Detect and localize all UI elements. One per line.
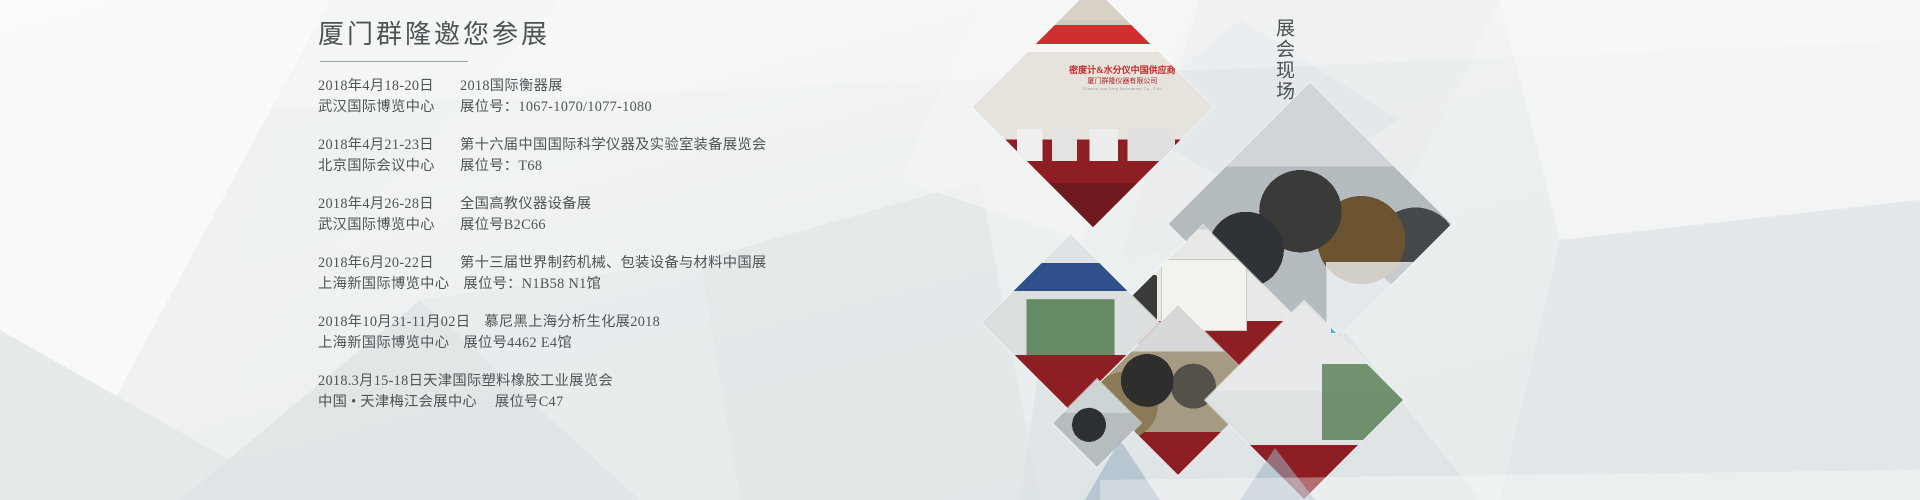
entry-booth: 展位号B2C66	[446, 215, 546, 236]
entry-booth: 展位号4462 E4馆	[449, 333, 572, 354]
entry-row-date: 2018年6月20-22日 第十三届世界制药机械、包装设备与材料中国展	[318, 253, 1018, 274]
exhibition-entry-6: 2018.3月15-18日天津国际塑料橡胶工业展览会 中国 • 天津梅江会展中心…	[318, 371, 1018, 413]
exhibition-text-column: 厦门群隆邀您参展 2018年4月18-20日 2018国际衡器展 武汉国际博览中…	[318, 18, 1018, 430]
title-divider	[320, 61, 468, 62]
exhibition-entry-4: 2018年6月20-22日 第十三届世界制药机械、包装设备与材料中国展 上海新国…	[318, 253, 1018, 295]
entry-row-date: 2018年4月18-20日 2018国际衡器展	[318, 76, 1018, 97]
entry-name: 慕尼黑上海分析生化展2018	[470, 312, 660, 333]
entry-row-venue: 北京国际会议中心 展位号：T68	[318, 156, 1018, 177]
entry-venue: 武汉国际博览中心	[318, 215, 446, 236]
entry-row-venue: 武汉国际博览中心 展位号：1067-1070/1077-1080	[318, 97, 1018, 118]
entry-row-date: 2018年4月21-23日 第十六届中国国际科学仪器及实验室装备展览会	[318, 135, 1018, 156]
entry-name: 2018国际衡器展	[446, 76, 563, 97]
entry-booth: 展位号：1067-1070/1077-1080	[446, 97, 652, 118]
entry-row-date: 2018年4月26-28日 全国高教仪器设备展	[318, 194, 1018, 215]
entry-venue: 武汉国际博览中心	[318, 97, 446, 118]
entry-name: 全国高教仪器设备展	[446, 194, 591, 215]
entry-date: 2018年10月31-11月02日	[318, 312, 470, 333]
entry-date: 2018年4月18-20日	[318, 76, 446, 97]
entry-venue: 上海新国际博览中心	[318, 333, 449, 354]
entry-venue: 上海新国际博览中心	[318, 274, 449, 295]
entry-row-venue: 中国 • 天津梅江会展中心 展位号C47	[318, 392, 1018, 413]
entry-booth: 展位号：N1B58 N1馆	[449, 274, 601, 295]
entry-date: 2018年4月26-28日	[318, 194, 446, 215]
entry-venue: 中国 • 天津梅江会展中心	[318, 392, 477, 413]
entry-row-date: 2018年10月31-11月02日 慕尼黑上海分析生化展2018	[318, 312, 1018, 333]
entry-row-venue: 上海新国际博览中心 展位号4462 E4馆	[318, 333, 1018, 354]
photo-collage: 密度计&水分仪中国供应商 厦门群隆仪器有限公司 Xiamen qun long …	[1020, 0, 1520, 500]
entry-row-date: 2018.3月15-18日天津国际塑料橡胶工业展览会	[318, 371, 1018, 392]
entry-booth: 展位号：T68	[446, 156, 542, 177]
entry-row-venue: 武汉国际博览中心 展位号B2C66	[318, 215, 1018, 236]
exhibition-entry-2: 2018年4月21-23日 第十六届中国国际科学仪器及实验室装备展览会 北京国际…	[318, 135, 1018, 177]
entry-booth: 展位号C47	[481, 392, 564, 413]
entry-venue: 北京国际会议中心	[318, 156, 446, 177]
page-title: 厦门群隆邀您参展	[318, 18, 1018, 59]
entry-row-venue: 上海新国际博览中心 展位号：N1B58 N1馆	[318, 274, 1018, 295]
entry-date: 2018.3月15-18日天津国际塑料橡胶工业展览会	[318, 373, 613, 389]
exhibition-entry-1: 2018年4月18-20日 2018国际衡器展 武汉国际博览中心 展位号：106…	[318, 76, 1018, 118]
entry-name: 第十六届中国国际科学仪器及实验室装备展览会	[446, 135, 767, 156]
exhibition-banner: 厦门群隆邀您参展 2018年4月18-20日 2018国际衡器展 武汉国际博览中…	[0, 0, 1920, 500]
entry-name: 第十三届世界制药机械、包装设备与材料中国展	[446, 253, 767, 274]
entry-date: 2018年4月21-23日	[318, 135, 446, 156]
exhibition-entry-3: 2018年4月26-28日 全国高教仪器设备展 武汉国际博览中心 展位号B2C6…	[318, 194, 1018, 236]
exhibition-entry-5: 2018年10月31-11月02日 慕尼黑上海分析生化展2018 上海新国际博览…	[318, 312, 1018, 354]
entry-date: 2018年6月20-22日	[318, 253, 446, 274]
